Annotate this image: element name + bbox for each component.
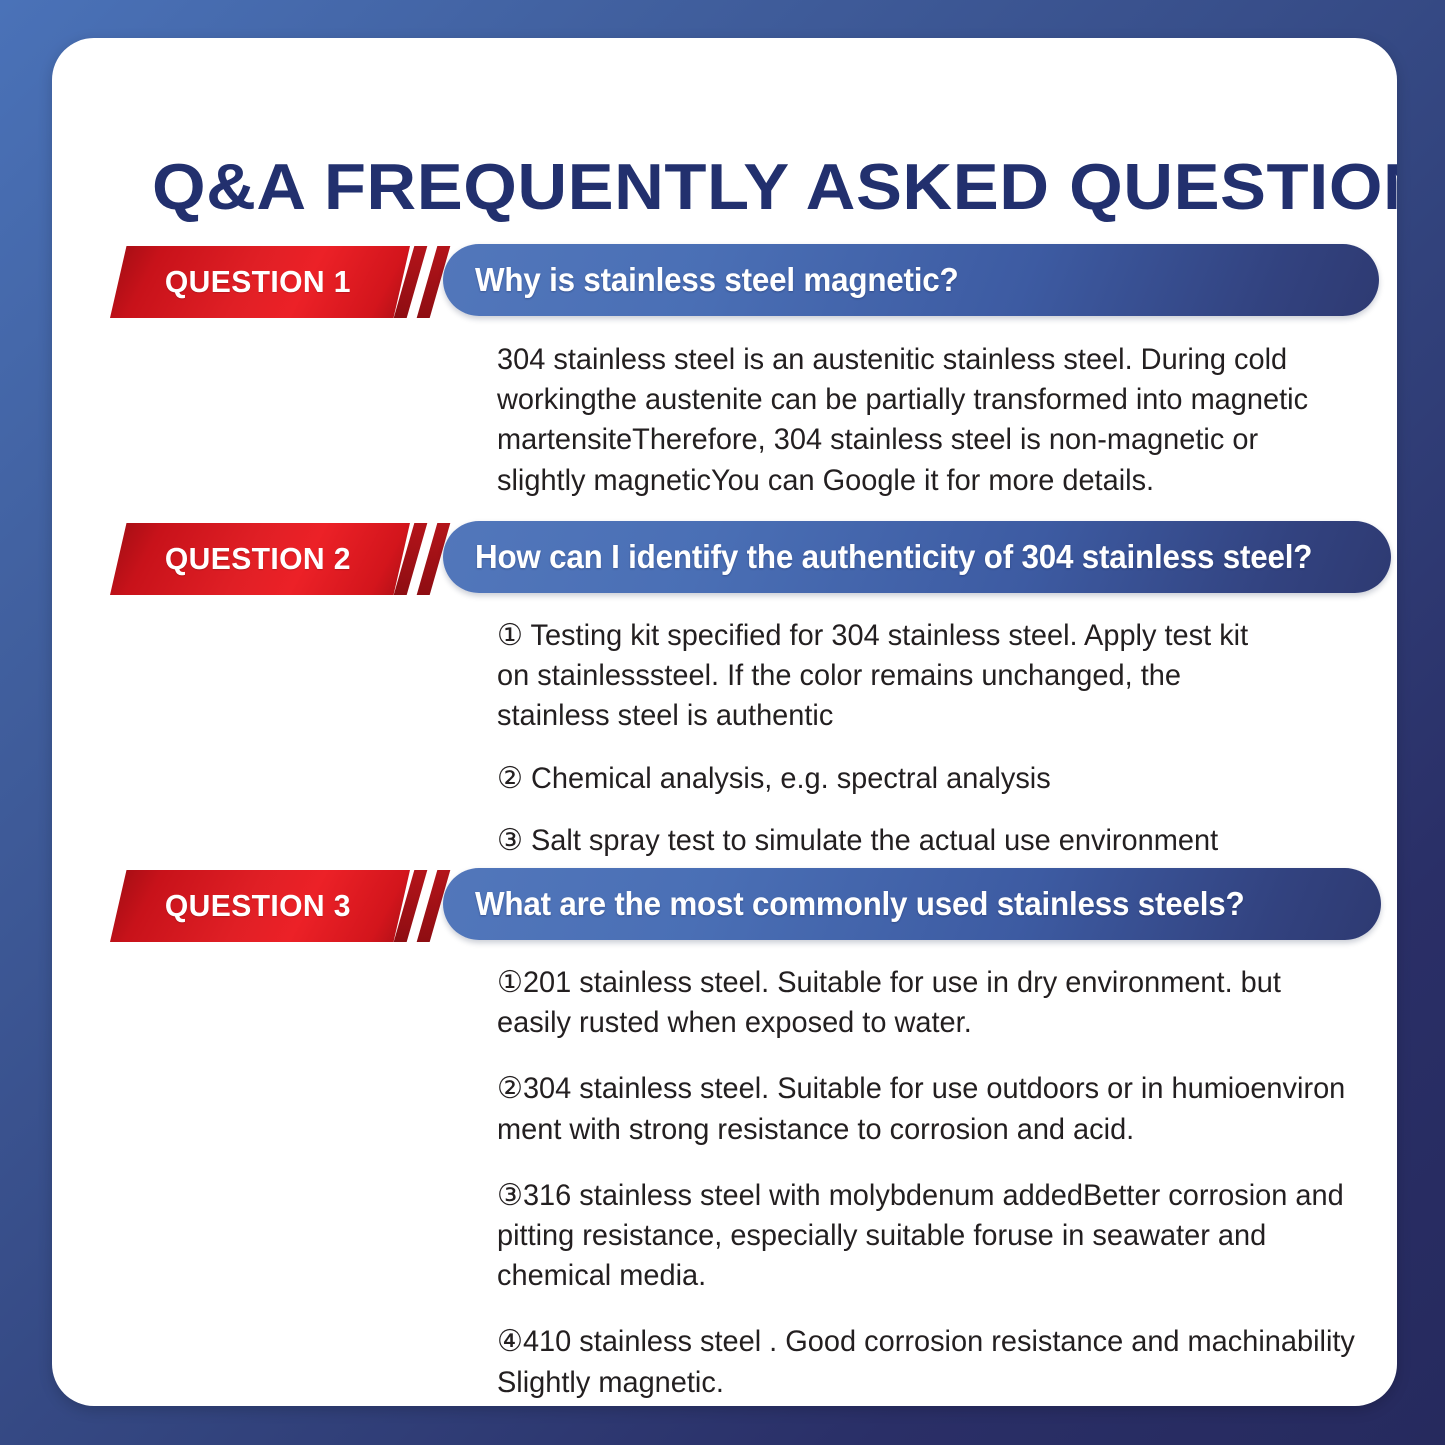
question-text-3: What are the most commonly used stainles… [475, 885, 1244, 923]
question-pill-2: How can I identify the authenticity of 3… [443, 521, 1391, 593]
answer-paragraph: ②304 stainless steel. Suitable for use o… [497, 1069, 1356, 1149]
answer-paragraph: ② Chemical analysis, e.g. spectral analy… [497, 759, 1269, 799]
content-card: Q&A FREQUENTLY ASKED QUESTIONS QUESTION … [52, 38, 1397, 1406]
answer-block-2: ① Testing kit specified for 304 stainles… [497, 616, 1269, 861]
faq-graphic: Q&A FREQUENTLY ASKED QUESTIONS QUESTION … [0, 0, 1445, 1445]
question-pill-1: Why is stainless steel magnetic? [443, 244, 1379, 316]
question-pill-3: What are the most commonly used stainles… [443, 868, 1381, 940]
answer-paragraph: 304 stainless steel is an austenitic sta… [497, 340, 1337, 501]
answer-paragraph: ①201 stainless steel. Suitable for use i… [497, 963, 1356, 1043]
question-tag-3: QUESTION 3 [110, 870, 410, 942]
answer-block-1: 304 stainless steel is an austenitic sta… [497, 340, 1337, 501]
question-row-1: QUESTION 1 Why is stainless steel magnet… [52, 246, 1397, 324]
question-tag-1: QUESTION 1 [110, 246, 410, 318]
question-row-2: QUESTION 2 How can I identify the authen… [52, 523, 1397, 601]
answer-paragraph: ③ Salt spray test to simulate the actual… [497, 821, 1269, 861]
question-tag-2: QUESTION 2 [110, 523, 410, 595]
answer-paragraph: ④410 stainless steel . Good corrosion re… [497, 1322, 1356, 1402]
answer-block-3: ①201 stainless steel. Suitable for use i… [497, 963, 1356, 1403]
question-tag-label-2: QUESTION 2 [165, 541, 351, 577]
question-text-1: Why is stainless steel magnetic? [475, 261, 959, 299]
question-row-3: QUESTION 3 What are the most commonly us… [52, 870, 1397, 948]
answer-paragraph: ① Testing kit specified for 304 stainles… [497, 616, 1269, 737]
question-tag-label-1: QUESTION 1 [165, 264, 351, 300]
answer-paragraph: ③316 stainless steel with molybdenum add… [497, 1176, 1356, 1297]
question-text-2: How can I identify the authenticity of 3… [475, 538, 1312, 576]
page-title: Q&A FREQUENTLY ASKED QUESTIONS [152, 154, 1382, 219]
question-tag-label-3: QUESTION 3 [165, 888, 351, 924]
